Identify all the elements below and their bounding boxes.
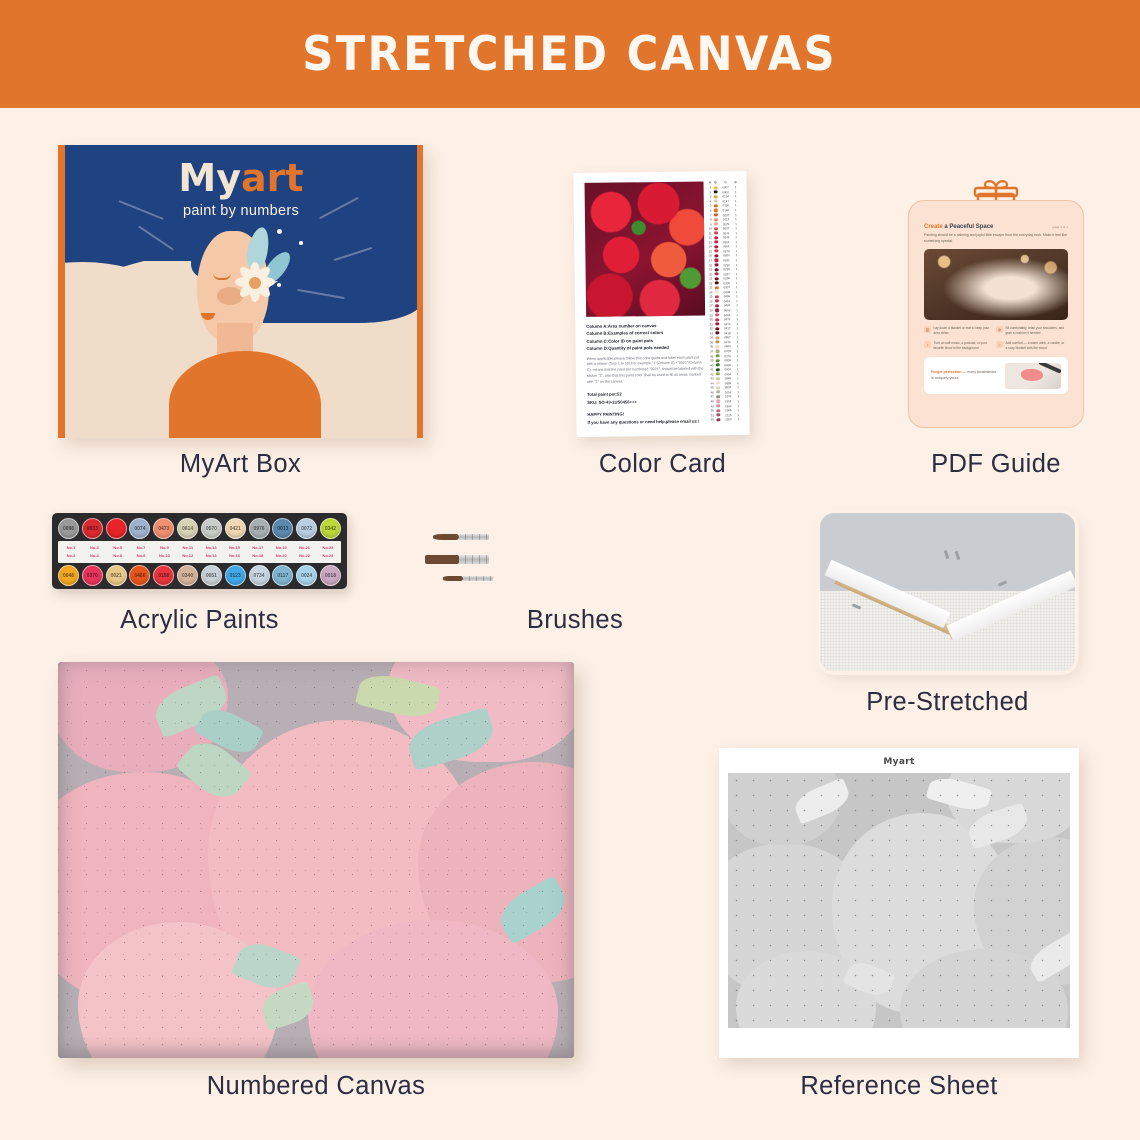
swatch-quantity: 1 — [735, 344, 741, 348]
swatch-quantity: 1 — [734, 308, 740, 312]
color-card-image: Column A:Area number on canvas Column B:… — [573, 171, 749, 437]
paint-pot[interactable]: 0074 — [129, 518, 150, 539]
header-col-d: D — [732, 180, 738, 184]
swatch-quantity: 1 — [734, 276, 740, 280]
paint-pot[interactable]: 0024 — [296, 565, 317, 586]
swatch-quantity: 1 — [733, 231, 739, 235]
paint-row-top: 0098003300740473061405700421097600130072… — [58, 518, 341, 539]
swatch-quantity: 1 — [734, 290, 740, 294]
swatch-color-id: 0207 — [719, 213, 733, 217]
swatch-color-id: 1043 — [721, 395, 735, 399]
paint-pot[interactable]: 0342 — [320, 518, 341, 539]
brush-ferrule — [459, 555, 489, 564]
swatch-quantity: 1 — [733, 249, 739, 253]
paint-pot[interactable]: 0651 — [201, 565, 222, 586]
paint-pot[interactable]: 0734 — [249, 565, 270, 586]
swatch-quantity: 1 — [735, 381, 741, 385]
pdf-tip-item: ▥ Lay down a blanket or mat to keep your… — [924, 326, 996, 336]
swatch-color-id: 2115 — [721, 413, 735, 417]
swatch-color-id: 0901 — [721, 367, 735, 371]
swatch-color-id: 0406 — [720, 295, 734, 299]
paint-pot[interactable]: 0370 — [82, 565, 103, 586]
swatch-color-id: 0457 — [720, 299, 734, 303]
swatch-color-id: 0295 — [720, 267, 734, 271]
swatch-color-id: 0934 — [721, 385, 735, 389]
box-logo: Myart — [65, 159, 417, 197]
paint-pot[interactable]: 0614 — [177, 518, 198, 539]
swatch-quantity: 1 — [733, 204, 739, 208]
mat-icon: ▥ — [924, 326, 931, 333]
paint-strip-label: No.5No.6 — [107, 544, 129, 559]
swatch-color-id: 0472 — [720, 317, 734, 321]
brush-tip — [425, 555, 459, 564]
swatch-color-id: 0584 — [721, 345, 735, 349]
swatch-quantity: 1 — [734, 317, 740, 321]
pdf-header-row: Create a Peaceful Space page 1 of 1 — [924, 224, 1068, 230]
color-card-text-block: Column A:Area number on canvas Column B:… — [586, 321, 707, 426]
brush-ferrule — [459, 534, 489, 540]
pdf-guide-image: Create a Peaceful Space page 1 of 1 Pain… — [908, 178, 1084, 428]
paint-pot[interactable]: 0158 — [153, 565, 174, 586]
myart-box-image: Myart paint by numbers — [58, 145, 423, 438]
pdf-tip-text: Add comfort — a warm drink, a candle, or… — [1006, 341, 1066, 351]
flower-icon — [235, 263, 275, 303]
swatch-color-id: 0136 — [719, 204, 733, 208]
paint-pot[interactable]: 0033 — [82, 518, 103, 539]
staple-icon — [944, 550, 950, 559]
music-icon: ♪ — [924, 341, 931, 348]
swatch-quantity: 1 — [735, 394, 741, 398]
paint-strip-label: No.9No.10 — [153, 544, 175, 559]
paint-strip-label: No.21No.22 — [294, 544, 316, 559]
logo-my-text: My — [178, 156, 241, 200]
pdf-tip-item: ♨ Add comfort — a warm drink, a candle, … — [996, 341, 1068, 351]
swatch-quantity: 1 — [733, 222, 739, 226]
acrylic-paints-image: 0098003300740473061405700421097600130072… — [52, 513, 347, 589]
paint-strip-label: No.23No.24 — [317, 544, 339, 559]
swatch-quantity: 1 — [734, 313, 740, 317]
paint-pot[interactable]: 0123 — [225, 565, 246, 586]
brush-fine — [433, 534, 723, 540]
swatch-quantity: 1 — [734, 263, 740, 267]
swatch-color-id: 0284 — [719, 254, 733, 258]
label-pre-stretched: Pre-Stretched — [820, 688, 1075, 717]
header-col-c: C — [718, 180, 732, 184]
swatch-color-id: 0147 — [719, 199, 733, 203]
pdf-lead-text: Painting should be a calming and joyful … — [924, 233, 1068, 244]
swatch-quantity: 1 — [735, 404, 741, 408]
swatch-quantity: 1 — [735, 354, 741, 358]
swatch-quantity: 1 — [733, 226, 739, 230]
swatch-color-id: 0904 — [721, 372, 735, 376]
swatch-color-id: 0291 — [719, 258, 733, 262]
brush-tip — [433, 534, 459, 540]
swatch-color-id: 0940 — [721, 376, 735, 380]
pdf-note-text: Forget perfection — every brushstroke is… — [931, 370, 999, 382]
color-card-instructions: When applicable,please follow this color… — [587, 355, 707, 386]
paint-pot[interactable]: 0018 — [320, 565, 341, 586]
label-brushes: Brushes — [425, 606, 725, 635]
swatch-color-id: 0237 — [719, 226, 733, 230]
paint-pot[interactable]: 0021 — [106, 565, 127, 586]
swatch-quantity: 1 — [734, 267, 740, 271]
swatch-quantity: 1 — [735, 408, 741, 412]
swatch-color-id: 2203 — [721, 417, 735, 421]
swatch-color-id: 0007 — [719, 185, 733, 189]
label-acrylic-paints: Acrylic Paints — [52, 606, 347, 635]
swatch-row: 5222031 — [709, 417, 742, 422]
swatch-quantity: 1 — [733, 217, 739, 221]
swatch-quantity: 1 — [735, 367, 741, 371]
swatch-quantity: 1 — [734, 335, 740, 339]
swatch-color-id: 0809 — [721, 358, 735, 362]
pdf-note-thumbnail — [1005, 363, 1061, 389]
pdf-tips-list: ▥ Lay down a blanket or mat to keep your… — [924, 326, 1068, 356]
swatch-color-id: 0417 — [720, 326, 734, 330]
label-reference-sheet: Reference Sheet — [719, 1072, 1079, 1101]
help-text: If you have any questions or need help,p… — [587, 417, 707, 426]
swatch-color-id: 0418 — [720, 331, 734, 335]
total-paint-pot: Total paint pot:52 — [587, 389, 707, 398]
paint-strip-label: No.15No.16 — [224, 544, 246, 559]
box-front-face: Myart paint by numbers — [65, 145, 417, 438]
swatch-quantity: 1 — [733, 190, 739, 194]
cushion-icon: ◍ — [996, 326, 1003, 333]
swatch-quantity: 1 — [734, 340, 740, 344]
swatch-color-id: 0134 — [719, 194, 733, 198]
paint-pot[interactable]: 0048 — [58, 565, 79, 586]
paint-strip-label: No.1No.2 — [60, 544, 82, 559]
swatch-color-id: 0300 — [720, 281, 734, 285]
label-numbered-canvas: Numbered Canvas — [58, 1072, 574, 1101]
swatch-color-id: 0376 — [721, 354, 735, 358]
swatch-color-id: 0290 — [720, 263, 734, 267]
ref-texture-dots — [728, 773, 1070, 1028]
paint-pot[interactable]: 0098 — [58, 518, 79, 539]
box-tagline: paint by numbers — [65, 203, 417, 219]
brushes-image — [425, 528, 725, 594]
swatch-quantity: 1 — [733, 235, 739, 239]
swatch-color-id: 0251 — [719, 240, 733, 244]
logo-art-text: art — [241, 156, 304, 200]
swatch-color-id: 0296 — [720, 276, 734, 280]
header-banner: STRETCHED CANVAS — [0, 0, 1140, 108]
paint-row-bottom: 0048037000210466015803400651012307340117… — [58, 565, 341, 586]
swatch-quantity: 1 — [735, 376, 741, 380]
swatch-quantity: 1 — [734, 304, 740, 308]
swatch-color-id: 0212 — [719, 217, 733, 221]
paint-pot[interactable]: 0072 — [296, 518, 317, 539]
brush-detail — [443, 576, 725, 581]
pdf-tip-item: ♪ Turn on soft music, a podcast, or your… — [924, 341, 996, 351]
paint-pot[interactable]: 0421 — [225, 518, 246, 539]
swatch-quantity: 1 — [735, 390, 741, 394]
swatch-quantity: 1 — [734, 294, 740, 298]
pdf-guide-card: Create a Peaceful Space page 1 of 1 Pain… — [908, 200, 1084, 428]
swatch-color-id: 1651 — [721, 399, 735, 403]
swatch-quantity: 1 — [735, 385, 741, 389]
swatch-quantity: 1 — [734, 272, 740, 276]
column-d-desc: Column D:Quantity of paint pots needed — [586, 344, 706, 353]
paint-strip-label: No.17No.18 — [247, 544, 269, 559]
swatch-color-id: 0476 — [720, 340, 734, 344]
pdf-guide-content: Create a Peaceful Space page 1 of 1 Pain… — [916, 217, 1076, 417]
box-right-edge — [417, 145, 423, 438]
brush-ferrule — [463, 576, 493, 581]
swatch-quantity: 1 — [734, 285, 740, 289]
pre-stretched-image — [820, 513, 1075, 671]
pdf-guide-photo — [924, 249, 1068, 320]
sparkle-dot — [299, 241, 303, 245]
label-color-card: Color Card — [545, 450, 780, 479]
brush-tip — [443, 576, 463, 581]
paint-strip-label: No.3No.4 — [83, 544, 105, 559]
swatch-quantity: 1 — [733, 213, 739, 217]
swatch-color-id: 1986 — [721, 408, 735, 412]
swatch-color-id: 0805 — [721, 363, 735, 367]
pdf-tip-text: Turn on soft music, a podcast, or your f… — [934, 341, 994, 351]
swatch-quantity: 1 — [735, 372, 741, 376]
pdf-guide-title: Create a Peaceful Space — [924, 224, 993, 230]
paint-pot[interactable] — [106, 518, 127, 539]
swatch-color-id: 0507 — [720, 335, 734, 339]
paint-pot[interactable]: 0340 — [177, 565, 198, 586]
swatch-quantity: 1 — [735, 417, 741, 421]
swatch-color-id: 0409 — [720, 290, 734, 294]
swatch-color-id: 0241 — [719, 231, 733, 235]
swatch-color-id: 1002 — [721, 390, 735, 394]
paint-pot[interactable]: 0570 — [201, 518, 222, 539]
swatch-color-id: 0307 — [720, 285, 734, 289]
paint-pot[interactable]: 0013 — [272, 518, 293, 539]
label-myart-box: MyArt Box — [58, 450, 423, 479]
color-card-photo — [585, 181, 706, 316]
pdf-tip-text: Sit comfortably, relax your shoulders, a… — [1006, 326, 1066, 336]
swatch-quantity: 1 — [733, 208, 739, 212]
swatch-quantity: 1 — [733, 258, 739, 262]
paint-label-strip: No.1No.2No.3No.4No.5No.6No.7No.8No.9No.1… — [58, 541, 341, 563]
swatch-quantity: 1 — [734, 299, 740, 303]
product-infographic: STRETCHED CANVAS — [0, 0, 1140, 1140]
swatch-color-id: 0275 — [719, 222, 733, 226]
sparkle-dot — [277, 283, 281, 287]
swatch-quantity: 1 — [735, 413, 741, 417]
swatch-color-id: 1904 — [721, 404, 735, 408]
swatch-quantity: 1 — [735, 399, 741, 403]
paint-pot[interactable]: 0466 — [129, 565, 150, 586]
swatch-color-id: 0279 — [719, 249, 733, 253]
sku-text: SKU: SO-43-1US0456+++ — [587, 397, 707, 406]
paint-pot[interactable]: 0976 — [249, 518, 270, 539]
swatch-quantity: 1 — [733, 194, 739, 198]
happy-painting-text: HAPPY PAINTING! — [587, 409, 707, 418]
swatch-quantity: 1 — [734, 322, 740, 326]
pdf-page-label: page 1 of 1 — [1053, 225, 1068, 229]
paint-pot[interactable]: 0473 — [153, 518, 174, 539]
reference-sheet-logo: Myart — [728, 757, 1070, 767]
page-title: STRETCHED CANVAS — [303, 27, 838, 82]
reference-sheet-photo — [728, 773, 1070, 1028]
swatch-quantity: 1 — [733, 244, 739, 248]
canvas-number-dots — [58, 662, 574, 1058]
swatch-quantity: 1 — [735, 363, 741, 367]
swatch-quantity: 1 — [733, 199, 739, 203]
swatch-color-id: 0409 — [720, 313, 734, 317]
label-pdf-guide: PDF Guide — [878, 450, 1114, 479]
swatch-quantity: 1 — [735, 358, 741, 362]
color-swatch-table: A B C D 10007120002130134140147150136160… — [706, 180, 742, 422]
swatch-color-id: 0242 — [719, 235, 733, 239]
swatch-quantity: 1 — [733, 240, 739, 244]
swatch-color-id: 0700 — [721, 349, 735, 353]
pdf-tip-item: ◍ Sit comfortably, relax your shoulders,… — [996, 326, 1068, 336]
swatch-color-id: 0502 — [720, 308, 734, 312]
paint-strip-label: No.19No.20 — [270, 544, 292, 559]
brush-flat — [425, 555, 717, 564]
swatch-color-id: 0403 — [720, 304, 734, 308]
swatch-color-id: 0002 — [719, 190, 733, 194]
swatch-quantity: 1 — [735, 349, 741, 353]
box-left-edge — [58, 145, 65, 438]
swatch-color-id: 0476 — [720, 322, 734, 326]
staple-icon — [955, 551, 961, 560]
hair-left-sweep — [65, 191, 205, 261]
pdf-tip-text: Lay down a blanket or mat to keep your a… — [934, 326, 994, 336]
sparkle-dot — [277, 229, 282, 234]
numbered-canvas-image — [58, 662, 574, 1058]
paint-pot[interactable]: 0117 — [272, 565, 293, 586]
paint-strip-label: No.11No.12 — [177, 544, 199, 559]
reference-sheet-image: Myart — [719, 748, 1079, 1058]
staple-icon — [998, 580, 1007, 586]
swatch-color-id: 0146 — [719, 208, 733, 212]
swatch-quantity: 1 — [734, 281, 740, 285]
paint-strip-label: No.13No.14 — [200, 544, 222, 559]
swatch-color-id: 0261 — [719, 244, 733, 248]
swatch-quantity: 1 — [734, 326, 740, 330]
candle-icon: ♨ — [996, 341, 1003, 348]
swatch-color-id: 0959 — [721, 381, 735, 385]
pdf-note-box: Forget perfection — every brushstroke is… — [924, 357, 1068, 394]
swatch-color-id: 0287 — [720, 272, 734, 276]
swatch-quantity: 1 — [733, 254, 739, 258]
paint-strip-label: No.7No.8 — [130, 544, 152, 559]
swatch-quantity: 1 — [733, 185, 739, 189]
swatch-quantity: 1 — [734, 331, 740, 335]
